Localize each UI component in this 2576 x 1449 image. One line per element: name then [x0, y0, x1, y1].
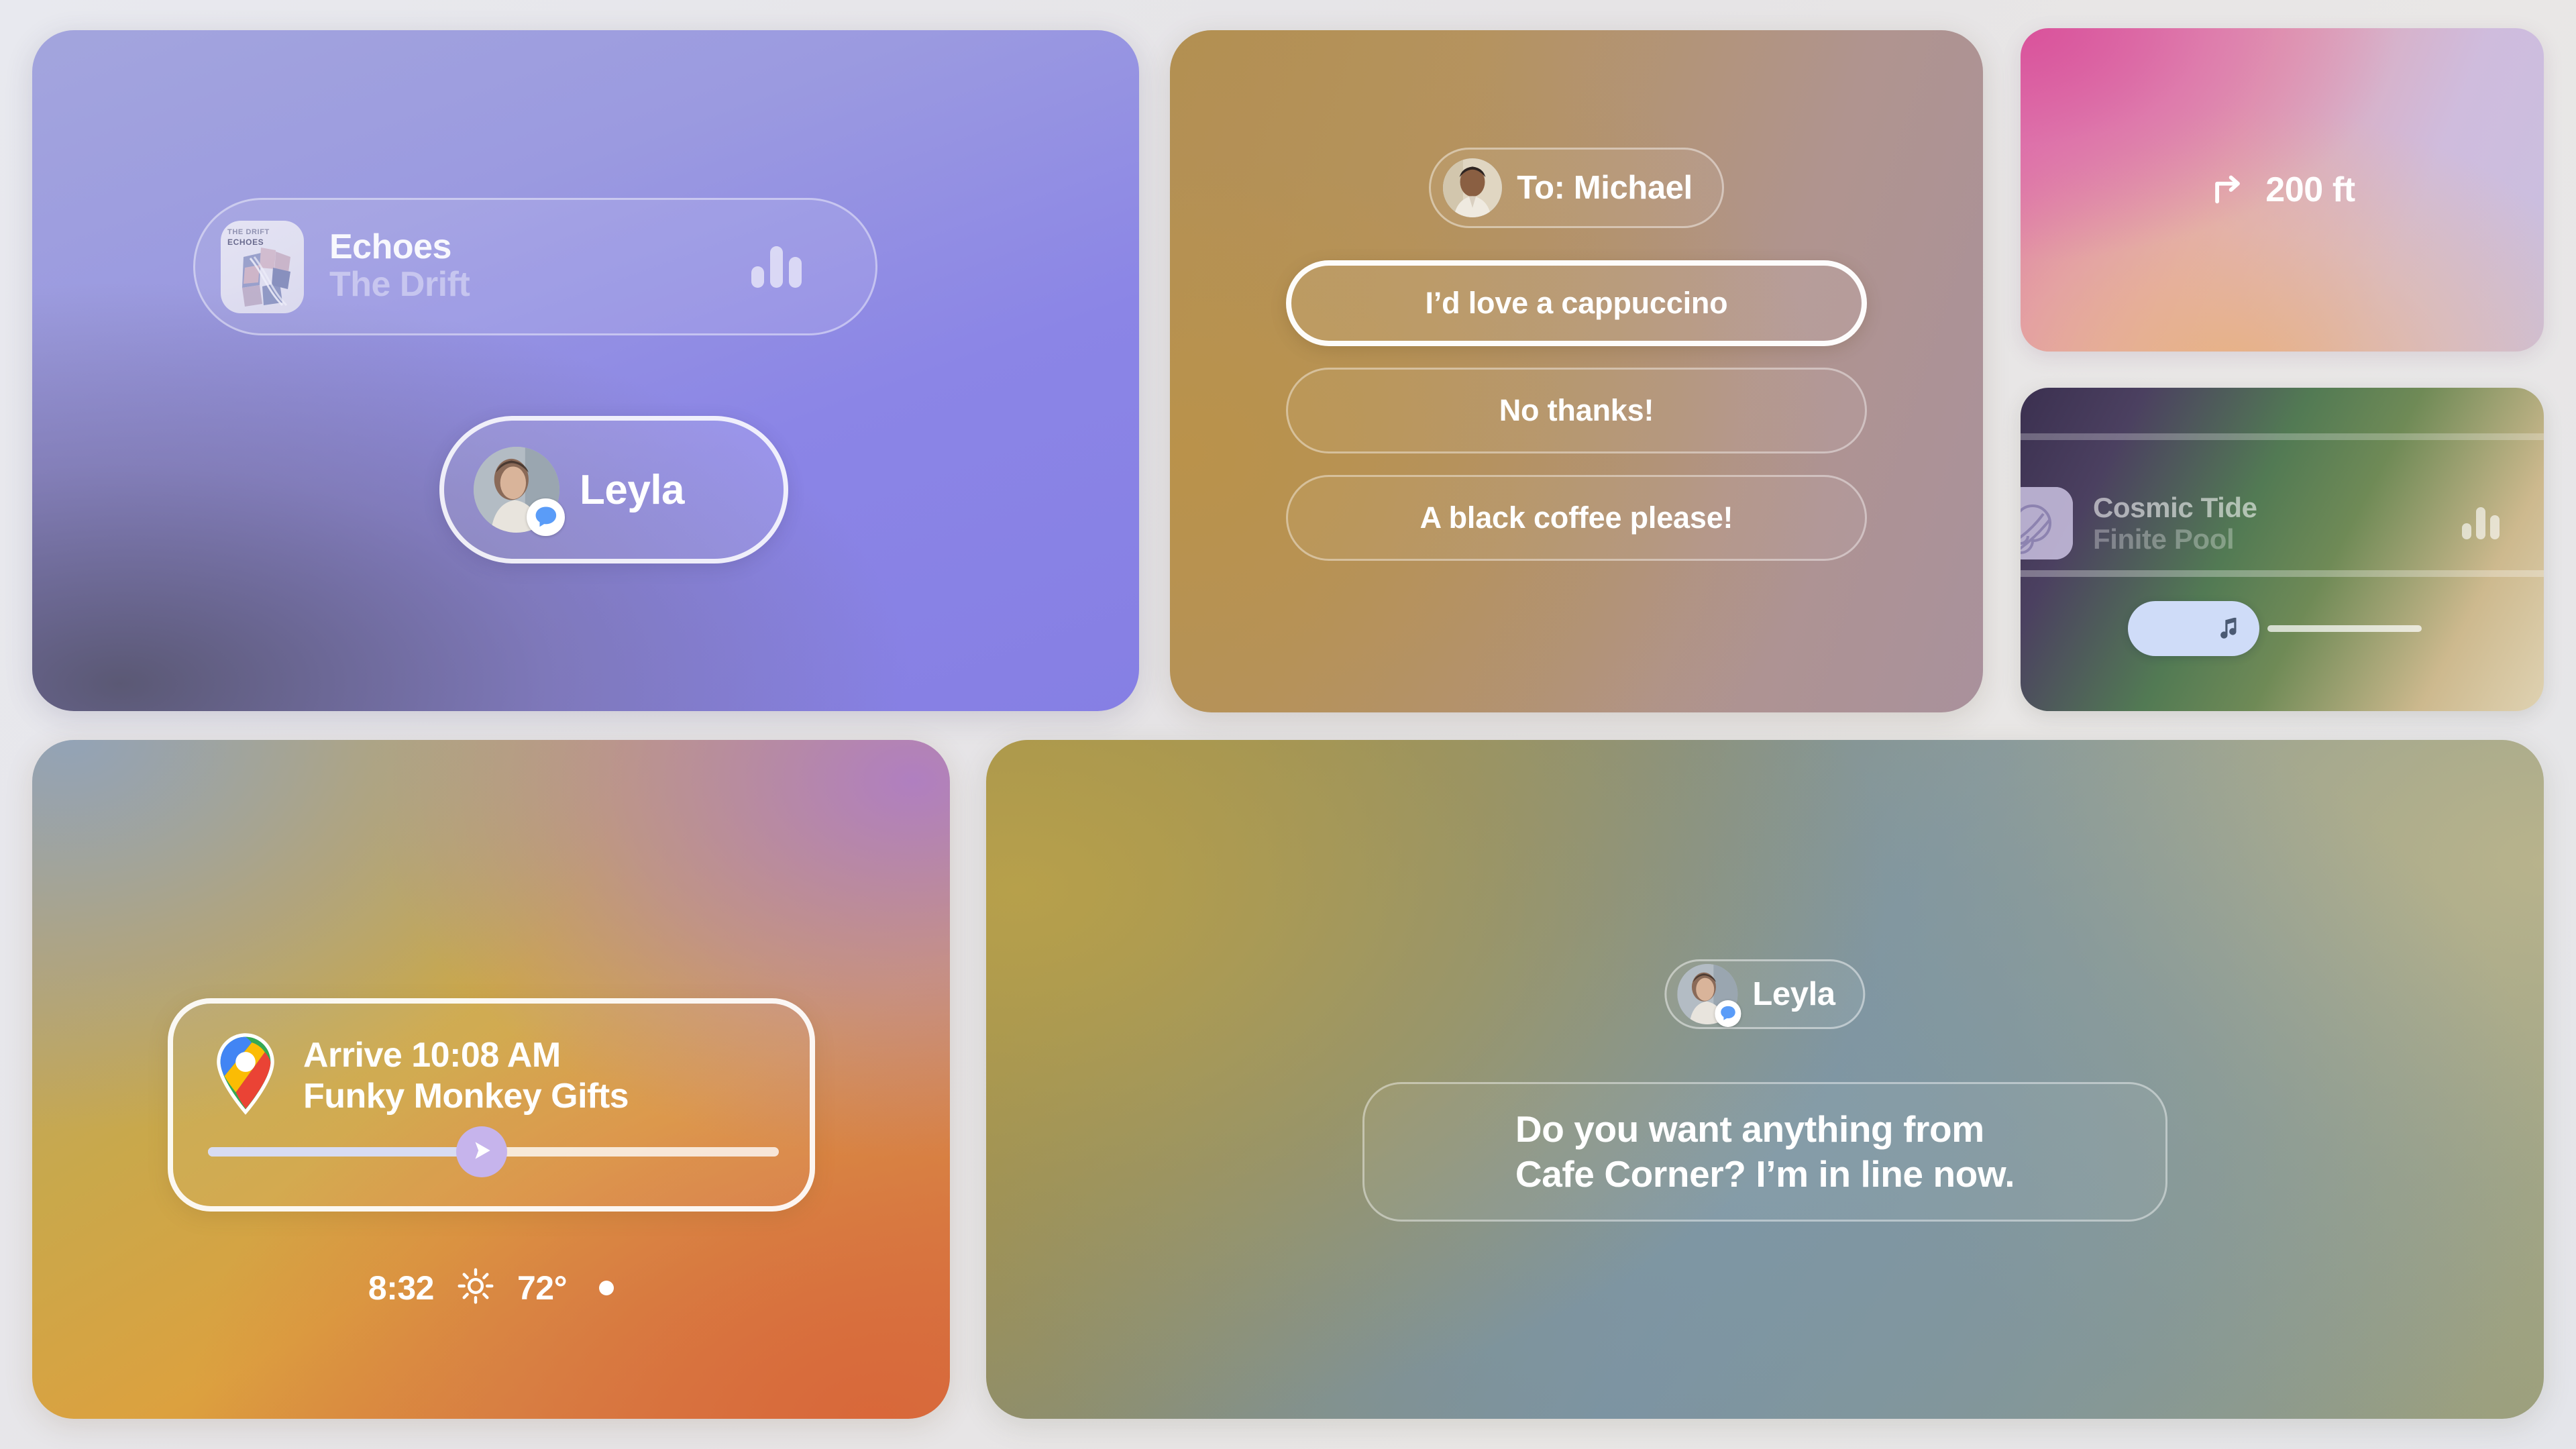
arrival-text: Arrive 10:08 AM Funky Monkey Gifts	[303, 1035, 629, 1117]
recipient-name: To: Michael	[1517, 169, 1693, 207]
avatar	[474, 447, 559, 533]
status-row: 8:32 72°	[32, 1267, 950, 1308]
now-playing-pill[interactable]: THE DRIFT ECHOES Echoes The Drift	[193, 198, 877, 335]
cosmic-text: Cosmic Tide Finite Pool	[2093, 492, 2442, 555]
seek-bar[interactable]	[2128, 601, 2422, 656]
google-maps-pin-icon	[208, 1032, 283, 1120]
message-line-2: Cafe Corner? I’m in line now.	[1515, 1152, 2015, 1197]
navigation-turn-card[interactable]: 200 ft	[2021, 28, 2544, 352]
track-title: Cosmic Tide	[2093, 492, 2442, 523]
sender-name: Leyla	[1752, 975, 1835, 1013]
temperature: 72°	[517, 1269, 567, 1307]
reply-option-1[interactable]: No thanks!	[1286, 368, 1867, 453]
album-art: THE DRIFT ECHOES	[221, 221, 304, 313]
sun-icon	[457, 1267, 494, 1308]
equalizer-icon	[751, 246, 802, 288]
cosmic-now-playing-row: Cosmic Tide Finite Pool	[2021, 487, 2529, 559]
track-title: Echoes	[329, 229, 726, 266]
sender-chip[interactable]: Leyla	[1664, 959, 1865, 1029]
recipient-chip[interactable]: To: Michael	[1429, 148, 1724, 228]
now-playing-text: Echoes The Drift	[329, 229, 726, 304]
clock: 8:32	[368, 1269, 434, 1307]
seek-thumb[interactable]	[2128, 601, 2259, 656]
equalizer-icon	[2462, 507, 2500, 539]
divider-bottom	[2021, 570, 2544, 577]
contact-name: Leyla	[580, 466, 684, 514]
messages-badge-icon	[527, 498, 564, 536]
reply-option-0[interactable]: I’d love a cappuccino	[1286, 260, 1867, 346]
album-art-label: THE DRIFT ECHOES	[227, 227, 270, 248]
message-body: Do you want anything from Cafe Corner? I…	[1515, 1107, 2015, 1197]
arrival-pill[interactable]: Arrive 10:08 AM Funky Monkey Gifts	[168, 998, 815, 1212]
music-note-icon	[2215, 612, 2242, 645]
divider-top	[2021, 433, 2544, 440]
reply-option-2[interactable]: A black coffee please!	[1286, 475, 1867, 561]
incoming-message-card[interactable]: Leyla Do you want anything from Cafe Cor…	[986, 740, 2544, 1419]
turn-distance: 200 ft	[2265, 170, 2355, 210]
contact-chip-leyla[interactable]: Leyla	[439, 416, 788, 563]
destination-name: Funky Monkey Gifts	[303, 1076, 629, 1117]
dot-indicator	[599, 1281, 614, 1295]
avatar	[1677, 964, 1737, 1024]
avatar	[1443, 158, 1502, 217]
navigation-arrow-icon	[469, 1138, 494, 1167]
track-artist: The Drift	[329, 266, 726, 304]
album-art	[2021, 487, 2073, 559]
reply-options-list: I’d love a cappuccino No thanks! A black…	[1286, 239, 1867, 561]
message-bubble[interactable]: Do you want anything from Cafe Corner? I…	[1362, 1082, 2167, 1222]
music-now-playing-card[interactable]: THE DRIFT ECHOES Echoes The Drift	[32, 30, 1139, 711]
progress-thumb[interactable]	[456, 1126, 507, 1177]
messages-badge-icon	[1715, 1000, 1741, 1027]
seek-track[interactable]	[2267, 625, 2422, 632]
navigation-arrival-card[interactable]: Arrive 10:08 AM Funky Monkey Gifts 8:32 …	[32, 740, 950, 1419]
route-progress-bar[interactable]	[208, 1147, 779, 1157]
progress-fill	[208, 1147, 482, 1157]
message-line-1: Do you want anything from	[1515, 1107, 2015, 1152]
eta-line: Arrive 10:08 AM	[303, 1035, 629, 1076]
suggested-replies-card[interactable]: To: Michael I’d love a cappuccino No tha…	[1170, 30, 1983, 712]
turn-right-icon	[2209, 169, 2248, 211]
track-artist: Finite Pool	[2093, 523, 2442, 555]
cosmic-tide-music-card[interactable]: Cosmic Tide Finite Pool	[2021, 388, 2544, 711]
